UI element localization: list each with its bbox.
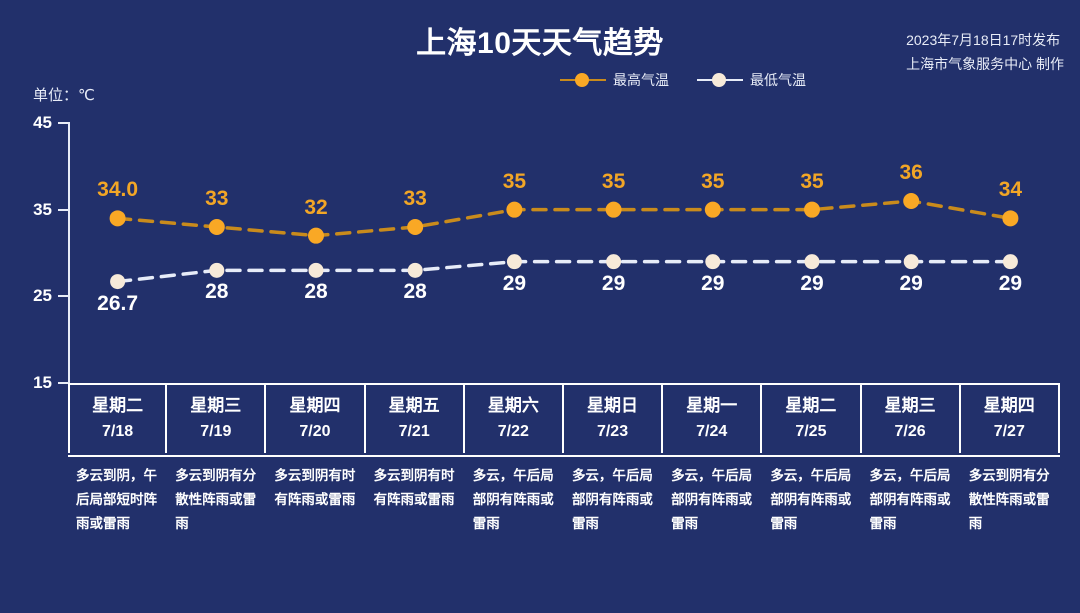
date-label: 7/20 (266, 419, 363, 453)
day-table-bottom-border (68, 455, 1060, 457)
weather-description: 多云到阴有时有阵雨或雷雨 (366, 464, 465, 536)
max-temp-label: 34 (999, 178, 1022, 202)
date-label: 7/18 (70, 419, 165, 453)
weather-description: 多云到阴有分散性阵雨或雷雨 (961, 464, 1060, 536)
y-tick-label: 15 (12, 373, 52, 393)
weekday-label: 星期一 (663, 393, 760, 419)
weekday-label: 星期三 (167, 393, 264, 419)
date-label: 7/26 (862, 419, 959, 453)
date-label: 7/25 (762, 419, 859, 453)
day-column[interactable]: 星期一7/24 (663, 385, 762, 453)
weather-description: 多云到阴有时有阵雨或雷雨 (266, 464, 365, 536)
publisher-name: 上海市气象服务中心 制作 (906, 52, 1064, 76)
series-line-max (118, 201, 1011, 236)
min-temp-label: 28 (404, 280, 427, 304)
legend-marker-min-icon (697, 72, 743, 88)
day-column[interactable]: 星期四7/20 (266, 385, 365, 453)
weekday-label: 星期日 (564, 393, 661, 419)
date-label: 7/19 (167, 419, 264, 453)
max-temp-label: 34.0 (97, 178, 138, 202)
data-point-max (606, 202, 622, 218)
min-temp-label: 29 (503, 272, 526, 296)
weather-description: 多云到阴有分散性阵雨或雷雨 (167, 464, 266, 536)
data-point-max (209, 219, 225, 235)
min-temp-label: 28 (205, 280, 228, 304)
weather-description: 多云到阴，午后局部短时阵雨或雷雨 (68, 464, 167, 536)
weekday-label: 星期二 (762, 393, 859, 419)
y-axis (68, 123, 70, 383)
legend-label-min: 最低气温 (750, 70, 806, 90)
y-tick-label: 25 (12, 286, 52, 306)
weekday-label: 星期五 (366, 393, 463, 419)
data-point-min (1003, 254, 1018, 269)
weather-description-row: 多云到阴，午后局部短时阵雨或雷雨多云到阴有分散性阵雨或雷雨多云到阴有时有阵雨或雷… (68, 464, 1060, 536)
data-point-max (110, 210, 126, 226)
day-column[interactable]: 星期二7/18 (68, 385, 167, 453)
y-tick-mark (58, 295, 70, 297)
data-point-max (903, 193, 919, 209)
weekday-label: 星期六 (465, 393, 562, 419)
legend-item-max-temp: 最高气温 (560, 70, 669, 90)
day-column[interactable]: 星期二7/25 (762, 385, 861, 453)
publish-info: 2023年7月18日17时发布 上海市气象服务中心 制作 (906, 28, 1064, 76)
min-temp-label: 29 (900, 272, 923, 296)
day-column[interactable]: 星期日7/23 (564, 385, 663, 453)
weather-description: 多云，午后局部阴有阵雨或雷雨 (762, 464, 861, 536)
data-point-min (805, 254, 820, 269)
min-temp-label: 29 (602, 272, 625, 296)
day-column[interactable]: 星期三7/26 (862, 385, 961, 453)
max-temp-label: 36 (900, 161, 923, 185)
data-point-max (705, 202, 721, 218)
data-point-min (209, 263, 224, 278)
date-label: 7/27 (961, 419, 1058, 453)
day-column[interactable]: 星期五7/21 (366, 385, 465, 453)
data-point-max (1002, 210, 1018, 226)
min-temp-label: 29 (701, 272, 724, 296)
legend-marker-max-icon (560, 72, 606, 88)
data-point-min (110, 274, 125, 289)
day-column[interactable]: 星期四7/27 (961, 385, 1060, 453)
data-point-min (904, 254, 919, 269)
max-temp-label: 35 (800, 170, 823, 194)
min-temp-label: 28 (304, 280, 327, 304)
day-column[interactable]: 星期六7/22 (465, 385, 564, 453)
max-temp-label: 35 (602, 170, 625, 194)
max-temp-label: 35 (701, 170, 724, 194)
data-point-min (705, 254, 720, 269)
y-tick-mark (58, 122, 70, 124)
weather-description: 多云，午后局部阴有阵雨或雷雨 (564, 464, 663, 536)
max-temp-label: 33 (205, 187, 228, 211)
data-point-min (408, 263, 423, 278)
max-temp-label: 33 (404, 187, 427, 211)
max-temp-label: 32 (304, 196, 327, 220)
data-point-max (804, 202, 820, 218)
min-temp-label: 26.7 (97, 292, 138, 316)
data-point-min (606, 254, 621, 269)
y-tick-label: 35 (12, 200, 52, 220)
date-label: 7/22 (465, 419, 562, 453)
data-point-max (407, 219, 423, 235)
chart-legend: 最高气温 最低气温 (560, 70, 806, 90)
date-label: 7/23 (564, 419, 661, 453)
max-temp-label: 35 (503, 170, 526, 194)
weekday-label: 星期四 (266, 393, 363, 419)
weekday-label: 星期四 (961, 393, 1058, 419)
day-header-table: 星期二7/18星期三7/19星期四7/20星期五7/21星期六7/22星期日7/… (68, 383, 1060, 453)
min-temp-label: 29 (800, 272, 823, 296)
date-label: 7/21 (366, 419, 463, 453)
series-line-min (118, 262, 1011, 282)
weekday-label: 星期三 (862, 393, 959, 419)
y-tick-mark (58, 209, 70, 211)
weather-description: 多云，午后局部阴有阵雨或雷雨 (663, 464, 762, 536)
data-point-min (507, 254, 522, 269)
weather-description: 多云，午后局部阴有阵雨或雷雨 (465, 464, 564, 536)
data-point-min (309, 263, 324, 278)
publish-time: 2023年7月18日17时发布 (906, 28, 1064, 52)
weather-description: 多云，午后局部阴有阵雨或雷雨 (862, 464, 961, 536)
min-temp-label: 29 (999, 272, 1022, 296)
day-column[interactable]: 星期三7/19 (167, 385, 266, 453)
legend-item-min-temp: 最低气温 (697, 70, 806, 90)
legend-label-max: 最高气温 (613, 70, 669, 90)
y-tick-label: 45 (12, 113, 52, 133)
weekday-label: 星期二 (70, 393, 165, 419)
data-point-max (506, 202, 522, 218)
date-label: 7/24 (663, 419, 760, 453)
data-point-max (308, 228, 324, 244)
unit-label: 单位：℃ (33, 84, 95, 105)
